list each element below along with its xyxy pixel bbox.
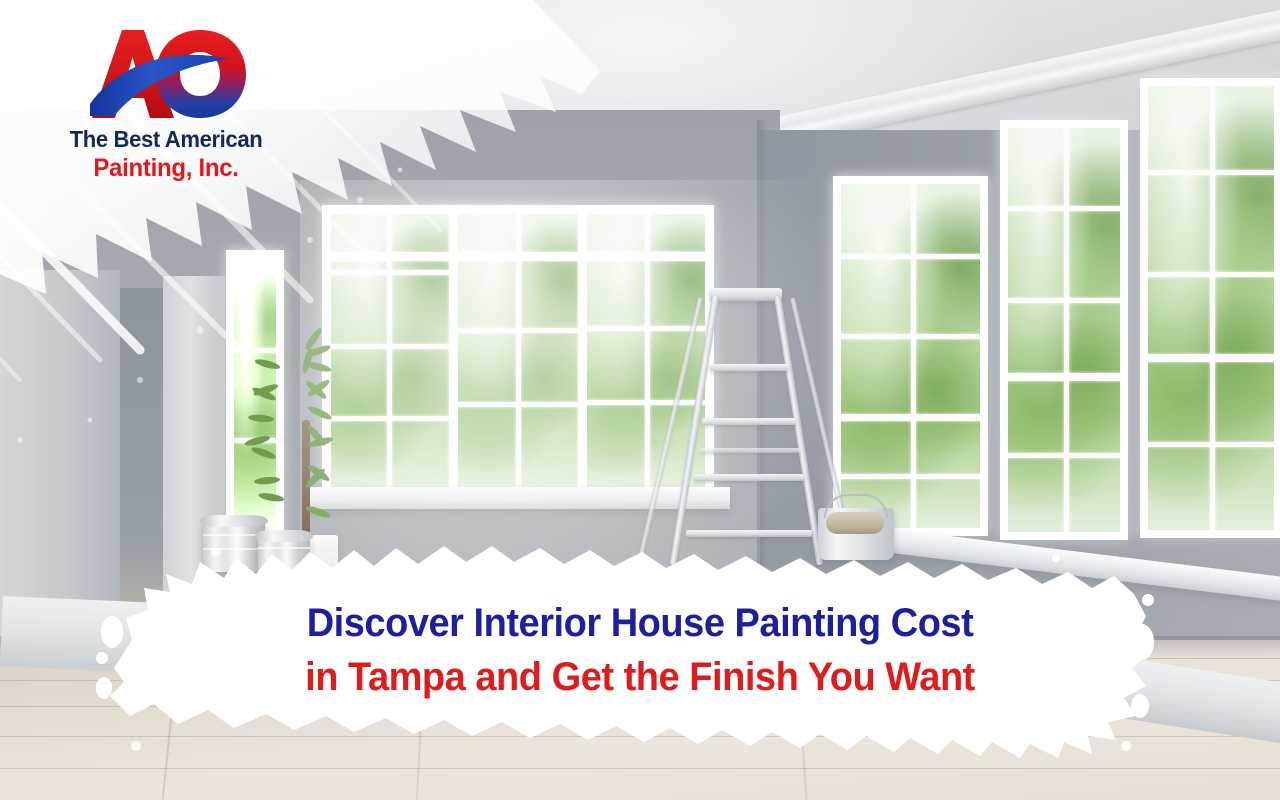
ladder-top-cap (710, 288, 782, 301)
potted-plant (250, 330, 360, 550)
window-right-1 (833, 176, 988, 536)
company-logo[interactable]: The Best American Painting, Inc. (60, 30, 272, 185)
ac-monogram-icon (88, 30, 248, 122)
hero-banner: The Best American Painting, Inc. Discove… (0, 0, 1280, 800)
logo-tagline-line2: Painting, Inc. (64, 154, 268, 183)
window-right-2 (1000, 120, 1128, 540)
paint-can (203, 520, 265, 572)
baseboard-left (0, 596, 243, 676)
paint-can (258, 535, 310, 577)
window-right-3 (1140, 78, 1280, 538)
logo-tagline-line1: The Best American (64, 126, 268, 153)
step-ladder (660, 288, 835, 573)
baseboard-back (225, 600, 765, 642)
window-center (322, 205, 714, 497)
paint-roller (826, 512, 884, 534)
